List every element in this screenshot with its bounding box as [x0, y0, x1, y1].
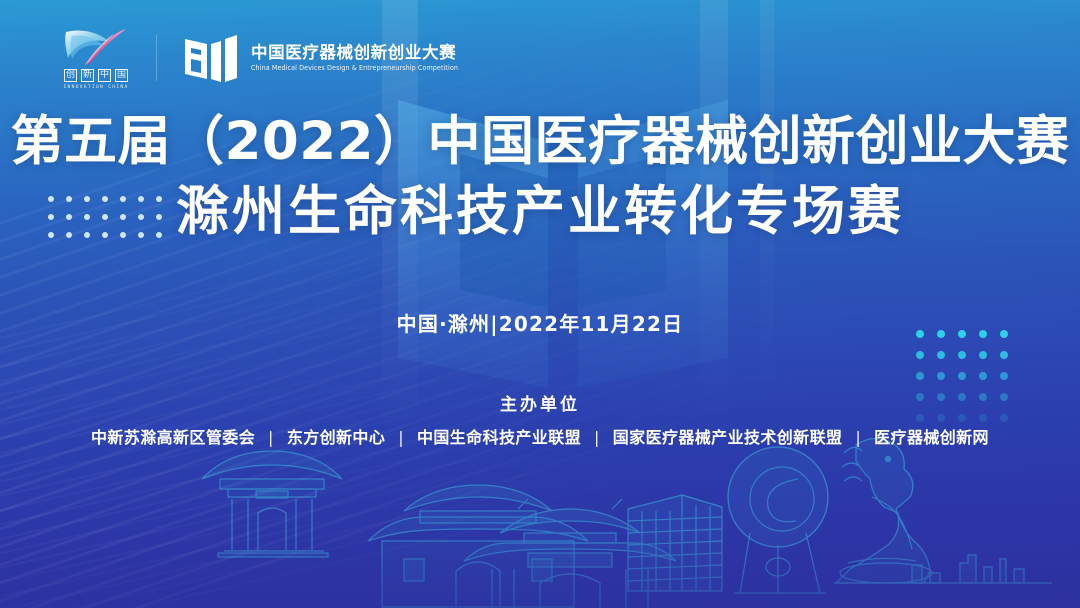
title-line-1: 第五届（2022）中国医疗器械创新创业大赛 [0, 112, 1080, 172]
modern-office-tower-icon [628, 495, 722, 591]
organizer-item: 国家医疗器械产业技术创新联盟 [613, 428, 843, 447]
bird-logo-icon [62, 26, 130, 66]
organizer-separator: | [391, 428, 411, 447]
organizer-separator: | [261, 428, 281, 447]
location-date-line: 中国·滁州|2022年11月22日 [0, 308, 1080, 337]
chinese-paifang-archway-icon [464, 499, 676, 608]
open-book-mark-icon [183, 33, 239, 83]
competition-name-cn: 中国医疗器械创新创业大赛 [251, 44, 467, 61]
innovation-china-chars: 创 新 中 国 [64, 69, 128, 82]
city-skyline-silhouette [0, 433, 1080, 608]
organizer-separator: | [587, 428, 607, 447]
background-decoration [0, 0, 1080, 608]
logo-char: 国 [115, 69, 128, 82]
ground-wash [0, 536, 1080, 608]
dot-grid-right [916, 330, 1021, 435]
organizer-heading: 主办单位 [0, 390, 1080, 415]
header-divider [156, 35, 157, 81]
poster-header: 创 新 中 国 INNOVATION CHINA 中国医疗器械创新创业大赛 Ch… [62, 26, 467, 90]
chinese-gate-tower-icon [368, 485, 588, 607]
title-line-2: 滁州生命科技产业转化专场赛 [0, 182, 1080, 242]
organizer-list: 中新苏滁高新区管委会 | 东方创新中心 | 中国生命科技产业联盟 | 国家医疗器… [0, 424, 1080, 448]
logo-char: 中 [98, 69, 111, 82]
circular-sculpture-icon [728, 447, 828, 593]
event-poster: 创 新 中 国 INNOVATION CHINA 中国医疗器械创新创业大赛 Ch… [0, 0, 1080, 608]
organizer-item: 医疗器械创新网 [874, 428, 989, 447]
innovation-china-en: INNOVATION CHINA [63, 85, 128, 90]
poster-title-block: 第五届（2022）中国医疗器械创新创业大赛 滁州生命科技产业转化专场赛 [0, 112, 1080, 243]
city-skyline-icon [892, 555, 1052, 583]
organizer-item: 中新苏滁高新区管委会 [91, 428, 255, 447]
diagonal-light-streaks [0, 0, 936, 608]
competition-logo-text: 中国医疗器械创新创业大赛 China Medical Devices Desig… [251, 44, 467, 72]
chinese-pavilion-icon [202, 451, 342, 557]
logo-char: 新 [81, 69, 94, 82]
merlion-statue-icon [834, 438, 938, 583]
light-band [700, 0, 728, 608]
light-band [382, 0, 418, 608]
logo-char: 创 [64, 69, 77, 82]
organizer-separator: | [848, 428, 868, 447]
competition-name-en: China Medical Devices Design & Entrepren… [251, 63, 458, 72]
organizer-item: 中国生命科技产业联盟 [417, 428, 581, 447]
competition-logo: 中国医疗器械创新创业大赛 China Medical Devices Desig… [183, 33, 467, 83]
light-band [760, 0, 774, 608]
innovation-china-logo: 创 新 中 国 INNOVATION CHINA [62, 26, 130, 90]
organizer-item: 东方创新中心 [287, 428, 385, 447]
